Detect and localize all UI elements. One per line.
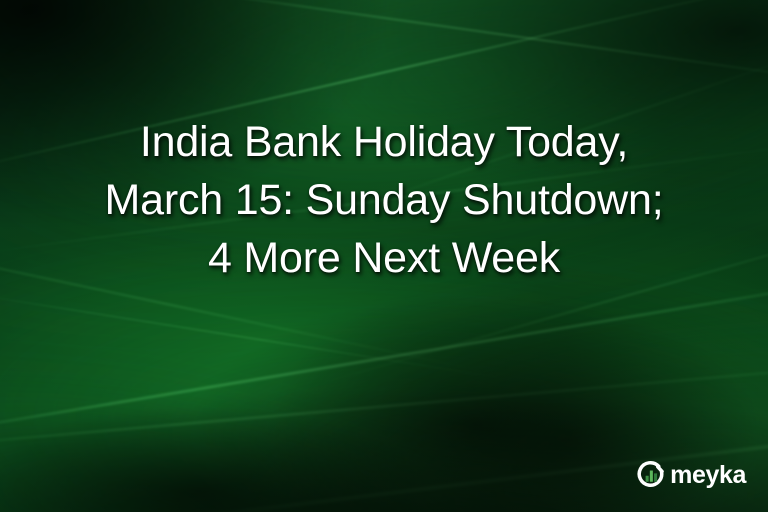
meyka-logo[interactable]: meyka	[636, 460, 746, 490]
headline-line-3: 4 More Next Week	[22, 229, 746, 287]
headline: India Bank Holiday Today, March 15: Sund…	[0, 113, 768, 287]
meyka-ring-bars-icon	[636, 460, 666, 490]
headline-line-2: March 15: Sunday Shutdown;	[22, 171, 746, 229]
promo-banner: India Bank Holiday Today, March 15: Sund…	[0, 0, 768, 512]
meyka-wordmark: meyka	[670, 462, 746, 488]
headline-line-1: India Bank Holiday Today,	[22, 113, 746, 171]
